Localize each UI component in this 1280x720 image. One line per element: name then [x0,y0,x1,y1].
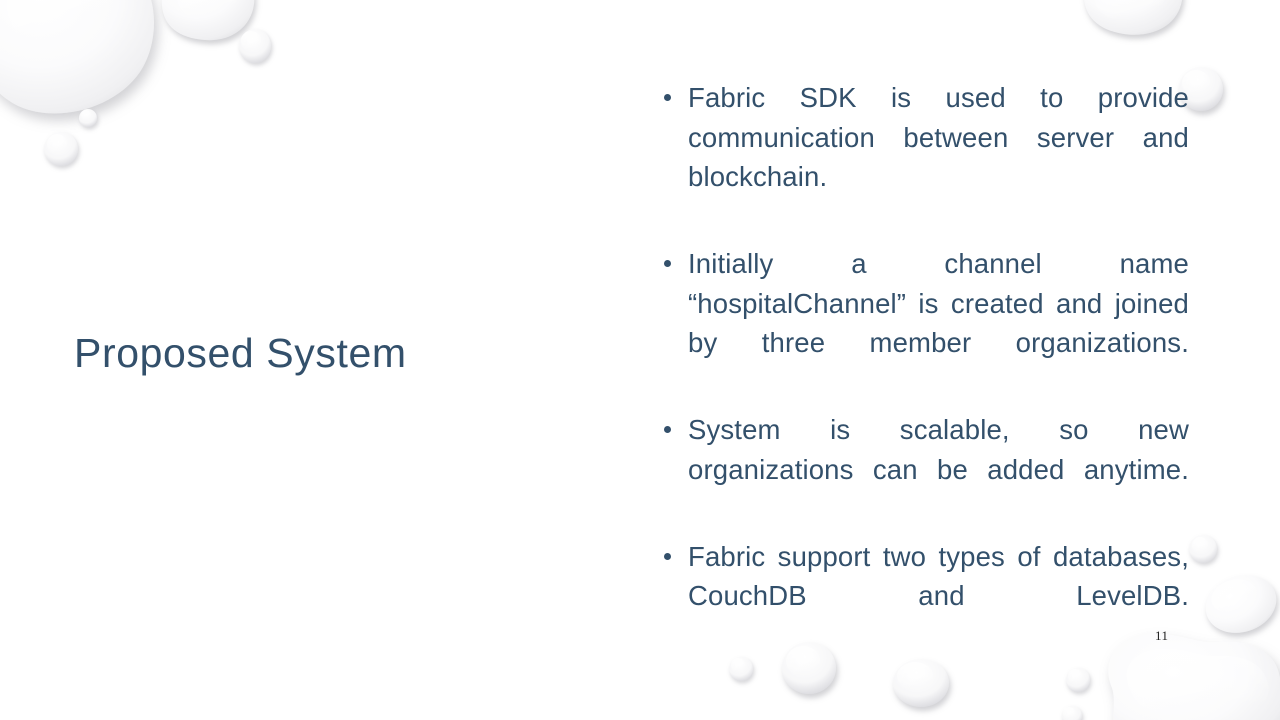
droplet-bottom-left-tiny [44,132,78,166]
bullet-item-4: Fabric support two types of databases, C… [662,537,1189,656]
bullet-list: Fabric SDK is used to provide communicat… [662,78,1189,655]
bullet-item-3: System is scalable, so new organizations… [662,410,1189,529]
bullet-point-icon [664,260,671,267]
droplet-tiny-top-left [79,109,97,127]
slide-title: Proposed System [74,330,594,377]
bullet-point-icon [664,94,671,101]
droplet-bottom-center-right [893,659,949,707]
bullet-text-3: System is scalable, so new organizations… [688,410,1189,529]
bullet-text-2: Initially a channel name “hospitalChanne… [688,244,1189,402]
bullet-item-2: Initially a channel name “hospitalChanne… [662,244,1189,402]
bullet-point-icon [664,553,671,560]
droplet-medium-top-left [162,0,255,40]
droplet-small-top-left [239,29,271,63]
bullet-text-1: Fabric SDK is used to provide communicat… [688,78,1189,236]
bullet-item-1: Fabric SDK is used to provide communicat… [662,78,1189,236]
slide-number: 11 [1155,628,1169,644]
droplet-top-center [1084,0,1182,35]
droplet-large-top-left [0,0,154,113]
droplet-right-edge-small [1189,535,1217,563]
title-placeholder: Proposed System [74,330,594,377]
droplet-ellipse-bottom-right [1198,566,1280,642]
bullet-point-icon [664,426,671,433]
droplet-bottom-right-tiny-b [1062,706,1082,720]
content-placeholder: Fabric SDK is used to provide communicat… [662,78,1189,655]
presentation-slide: Proposed System Fabric SDK is used to pr… [0,0,1280,720]
droplet-bottom-center-small [729,657,753,681]
droplet-bottom-right-tiny-a [1066,668,1090,692]
bullet-text-4: Fabric support two types of databases, C… [688,537,1189,656]
